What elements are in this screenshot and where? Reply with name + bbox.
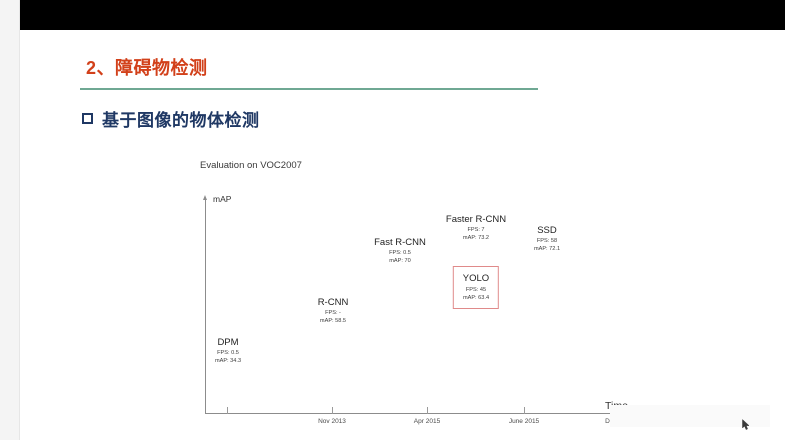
presentation-slide: 2、障碍物检测 基于图像的物体检测 Evaluation on VOC2007 … [20,30,785,440]
x-axis-tick-mark [227,407,228,414]
detection-timeline-chart: Evaluation on VOC2007 mAP Time Nov 2013A… [180,158,680,433]
chart-point-fps: FPS: - [318,309,349,317]
page-title: 2、障碍物检测 [86,54,208,80]
chart-point-name: SSD [534,224,560,237]
chart-point-name: DPM [215,336,241,349]
chart-point-map: mAP: 34.3 [215,357,241,365]
chart-point-name: R-CNN [318,296,349,309]
x-axis-tick-mark [524,407,525,414]
y-axis-label: mAP [213,194,231,204]
chart-plot-area: mAP Time Nov 2013Apr 2015June 2015Dec 20… [180,188,680,433]
heading-divider [80,88,538,90]
chart-point-fps: FPS: 7 [446,226,506,234]
x-axis-tick-label: Apr 2015 [414,418,440,425]
chart-point-name: YOLO [463,272,489,286]
x-axis-tick-mark [427,407,428,414]
y-axis-arrow-icon [203,195,207,200]
chart-title: Evaluation on VOC2007 [200,160,302,171]
chart-point-fps: FPS: 0.5 [215,349,241,357]
chart-point-name: Faster R-CNN [446,213,506,226]
chart-point-map: mAP: 63.4 [463,294,489,302]
x-axis-tick-mark [332,407,333,414]
x-axis-tick-label: Nov 2013 [318,418,346,425]
chart-point-map: mAP: 73.2 [446,234,506,242]
chart-point-annotation: R-CNNFPS: -mAP: 58.5 [318,296,349,325]
chart-point-map: mAP: 58.5 [318,317,349,325]
sub-heading-label: 基于图像的物体检测 [102,106,260,131]
chart-point-annotation: SSDFPS: 58mAP: 72.1 [534,224,560,253]
sub-heading: 基于图像的物体检测 [82,106,260,131]
chart-point-fps: FPS: 0.5 [374,249,426,257]
x-axis-tick-label: June 2015 [509,418,539,425]
chart-point-annotation: DPMFPS: 0.5mAP: 34.3 [215,336,241,365]
chart-point-name: Fast R-CNN [374,236,426,249]
chart-point-map: mAP: 70 [374,257,426,265]
chart-point-map: mAP: 72.1 [534,245,560,253]
chart-point-fps: FPS: 45 [463,286,489,294]
y-axis-line [205,200,206,413]
chart-point-annotation: Faster R-CNNFPS: 7mAP: 73.2 [446,213,506,242]
hollow-square-bullet-icon [82,113,93,124]
viewer-top-bar [20,0,785,30]
chart-point-annotation: Fast R-CNNFPS: 0.5mAP: 70 [374,236,426,265]
mouse-cursor-icon [742,419,751,431]
chart-point-fps: FPS: 58 [534,237,560,245]
viewer-left-gutter [0,0,20,440]
chart-point-annotation: YOLOFPS: 45mAP: 63.4 [453,266,499,309]
